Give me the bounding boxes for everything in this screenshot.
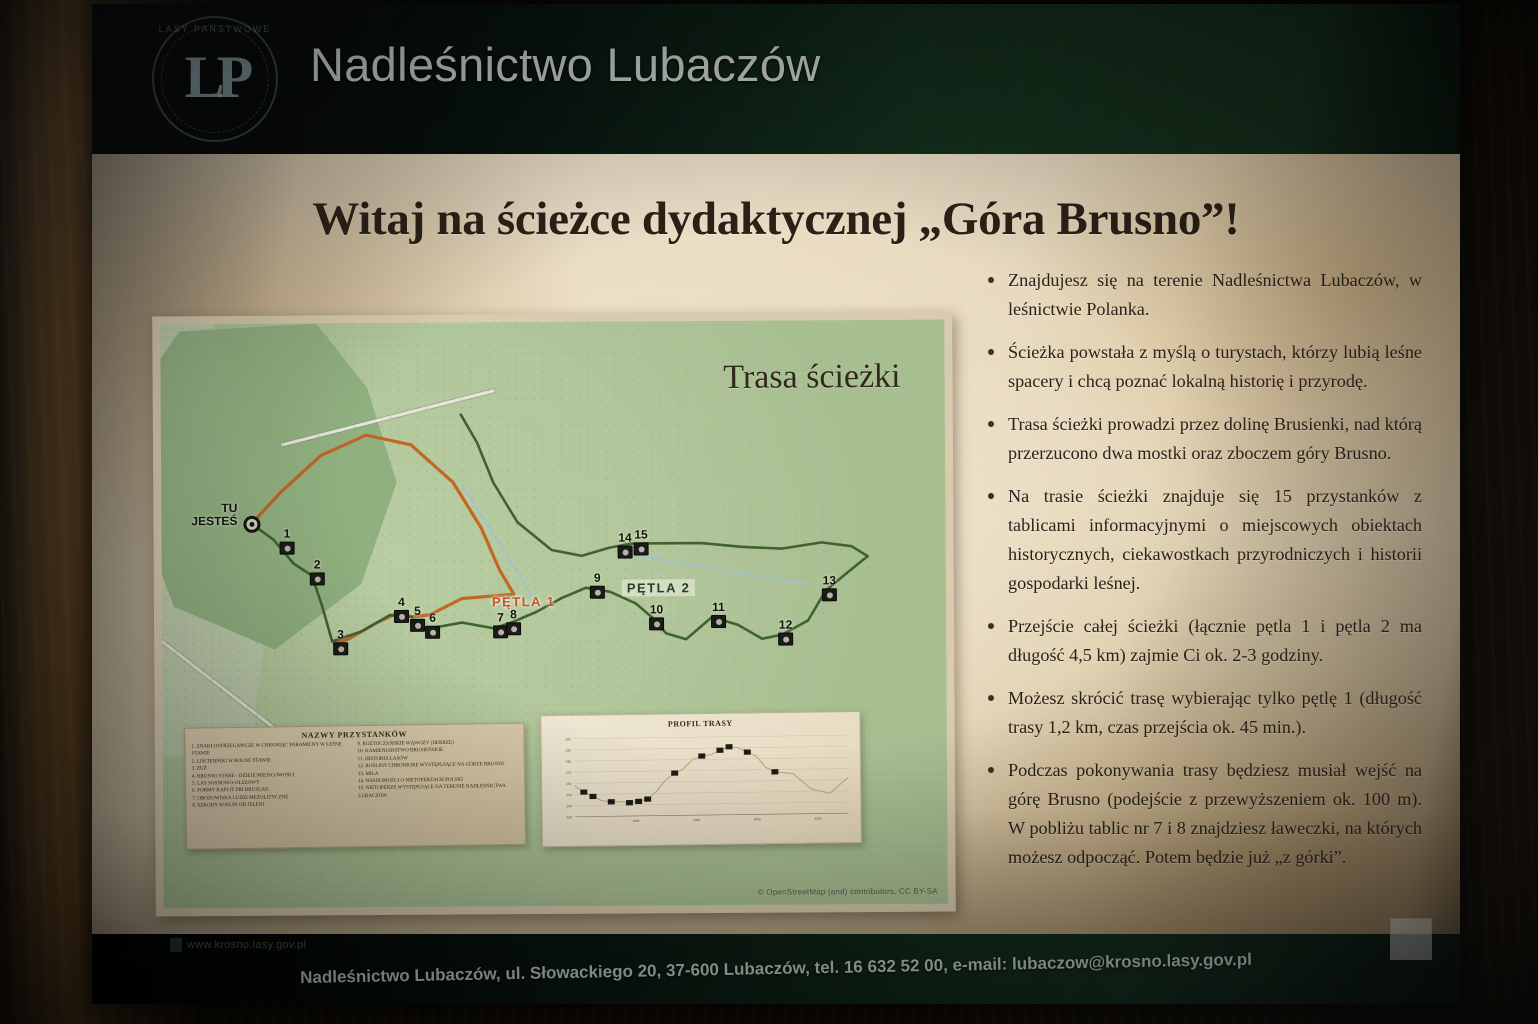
- trail-stop-number: 2: [314, 557, 321, 571]
- trail-stop-marker[interactable]: 13: [822, 588, 837, 601]
- legend-column-left: 1. ZNAKI OSTRZEGAWCZE W CHRONIĄC PARAMIL…: [191, 741, 352, 810]
- board-header: LASY PAŃSTWOWE LP Nadleśnictwo Lubaczów: [92, 4, 1460, 154]
- map-panel[interactable]: Trasa ścieżki TU JESTEŚ PĘTLA 1 PĘTLA 2 …: [152, 312, 956, 917]
- trail-stop-number: 1: [284, 527, 291, 541]
- you-are-here-marker-icon: [243, 516, 260, 533]
- website-url-text: www.krosno.lasy.gov.pl: [187, 939, 306, 951]
- trail-stop-number: 4: [398, 595, 405, 609]
- svg-text:260: 260: [566, 782, 572, 786]
- trail-stop-number: 5: [414, 604, 421, 618]
- trail-stop-number: 3: [337, 627, 344, 641]
- loop-2-label: PĘTLA 2: [622, 579, 696, 596]
- you-are-here-line1: TU: [221, 501, 237, 515]
- trail-stop-number: 15: [634, 527, 647, 541]
- logo-arc-text: LASY PAŃSTWOWE: [154, 24, 276, 34]
- stops-legend-panel: NAZWY PRZYSTANKÓW 1. ZNAKI OSTRZEGAWCZE …: [184, 723, 526, 850]
- qr-code-icon[interactable]: [1390, 918, 1432, 960]
- profile-plot: 3002902802702602502402301000200030004000: [547, 729, 854, 833]
- trail-stop-number: 10: [650, 602, 663, 616]
- svg-text:280: 280: [566, 760, 572, 764]
- website-url[interactable]: www.krosno.lasy.gov.pl: [170, 938, 306, 952]
- legend-item: 15. NIETOPERZE WYSTĘPUJĄCE NA TERENIE NA…: [358, 783, 518, 800]
- info-text-column: Znajdujesz się na terenie Nadleśnictwa L…: [982, 266, 1422, 886]
- trail-stop-number: 6: [429, 611, 436, 625]
- trail-stop-marker[interactable]: 14: [618, 546, 633, 559]
- trail-stop-number: 14: [618, 531, 631, 545]
- trail-stop-marker[interactable]: 11: [711, 615, 726, 628]
- trail-stop-marker[interactable]: 10: [649, 617, 664, 630]
- trail-stop-marker[interactable]: 2: [310, 572, 325, 585]
- svg-text:3000: 3000: [754, 817, 761, 821]
- board-body: Witaj na ścieżce dydaktycznej „Góra Brus…: [92, 154, 1460, 934]
- info-bullet: Znajdujesz się na terenie Nadleśnictwa L…: [982, 266, 1422, 324]
- trail-stop-number: 7: [497, 610, 504, 624]
- trail-stop-number: 8: [510, 607, 517, 621]
- svg-text:240: 240: [566, 804, 572, 808]
- bullet-list: Znajdujesz się na terenie Nadleśnictwa L…: [982, 266, 1422, 872]
- trail-stop-marker[interactable]: 15: [634, 542, 649, 555]
- info-bullet: Na trasie ścieżki znajduje się 15 przyst…: [982, 482, 1422, 598]
- osm-attribution: © OpenStreetMap (and) contributors, CC B…: [758, 887, 938, 897]
- loop-1-label: PĘTLA 1: [492, 594, 556, 609]
- trail-stop-marker[interactable]: 12: [778, 633, 793, 646]
- trail-stop-marker[interactable]: 9: [590, 586, 605, 599]
- svg-text:300: 300: [565, 737, 571, 741]
- info-bullet: Podczas pokonywania trasy będziesz musia…: [982, 756, 1422, 872]
- info-bullet: Możesz skrócić trasę wybierając tylko pę…: [982, 684, 1422, 742]
- trail-stop-marker[interactable]: 6: [425, 626, 440, 639]
- information-board: LASY PAŃSTWOWE LP Nadleśnictwo Lubaczów …: [92, 4, 1460, 1004]
- you-are-here-label: TU JESTEŚ: [171, 502, 237, 528]
- elevation-profile-chart: 3002902802702602502402301000200030004000: [547, 729, 854, 833]
- legend-item: 8. SZKODY ROŚLIN OD JELENI: [192, 801, 352, 811]
- trail-stop-marker[interactable]: 8: [506, 622, 521, 635]
- you-are-here-line2: JESTEŚ: [191, 514, 237, 528]
- qr-caption: Zeskanuj kod: [1408, 910, 1438, 916]
- info-bullet: Przejście całej ścieżki (łącznie pętla 1…: [982, 612, 1422, 670]
- trail-stop-number: 12: [779, 618, 792, 632]
- svg-text:4000: 4000: [814, 817, 821, 821]
- trail-stop-marker[interactable]: 5: [410, 619, 425, 632]
- profile-title: PROFIL TRASY: [547, 717, 853, 730]
- elevation-profile-panel: PROFIL TRASY 300290280270260250240230100…: [540, 711, 862, 847]
- svg-text:2000: 2000: [693, 818, 700, 822]
- trail-stop-number: 13: [823, 573, 836, 587]
- svg-text:250: 250: [566, 793, 572, 797]
- info-bullet: Ścieżka powstała z myślą o turystach, kt…: [982, 338, 1422, 396]
- svg-text:1000: 1000: [632, 819, 639, 823]
- trail-stop-number: 9: [594, 571, 601, 585]
- svg-text:290: 290: [566, 749, 572, 753]
- map-title: Trasa ścieżki: [723, 358, 900, 397]
- lasy-panstwowe-logo-icon: LASY PAŃSTWOWE LP: [152, 16, 278, 142]
- main-heading: Witaj na ścieżce dydaktycznej „Góra Brus…: [92, 192, 1460, 246]
- legend-column-right: 9. ROZTOCZAŃSKIE WĄWOZY (DEBRZE)10. KAMI…: [357, 739, 518, 808]
- trail-stop-number: 11: [712, 600, 725, 614]
- info-bullet: Trasa ścieżki prowadzi przez dolinę Brus…: [982, 410, 1422, 468]
- svg-text:230: 230: [567, 815, 573, 819]
- page-title: Nadleśnictwo Lubaczów: [310, 37, 821, 92]
- small-logo-icon: [170, 938, 182, 952]
- trail-stop-marker[interactable]: 1: [280, 542, 295, 555]
- logo-monogram: LP: [185, 43, 246, 112]
- svg-text:270: 270: [566, 771, 572, 775]
- trail-stop-marker[interactable]: 3: [333, 642, 348, 655]
- footer-contact-text: Nadleśnictwo Lubaczów, ul. Słowackiego 2…: [300, 950, 1252, 988]
- trail-stop-marker[interactable]: 4: [394, 610, 409, 623]
- trail-map[interactable]: Trasa ścieżki TU JESTEŚ PĘTLA 1 PĘTLA 2 …: [160, 320, 948, 909]
